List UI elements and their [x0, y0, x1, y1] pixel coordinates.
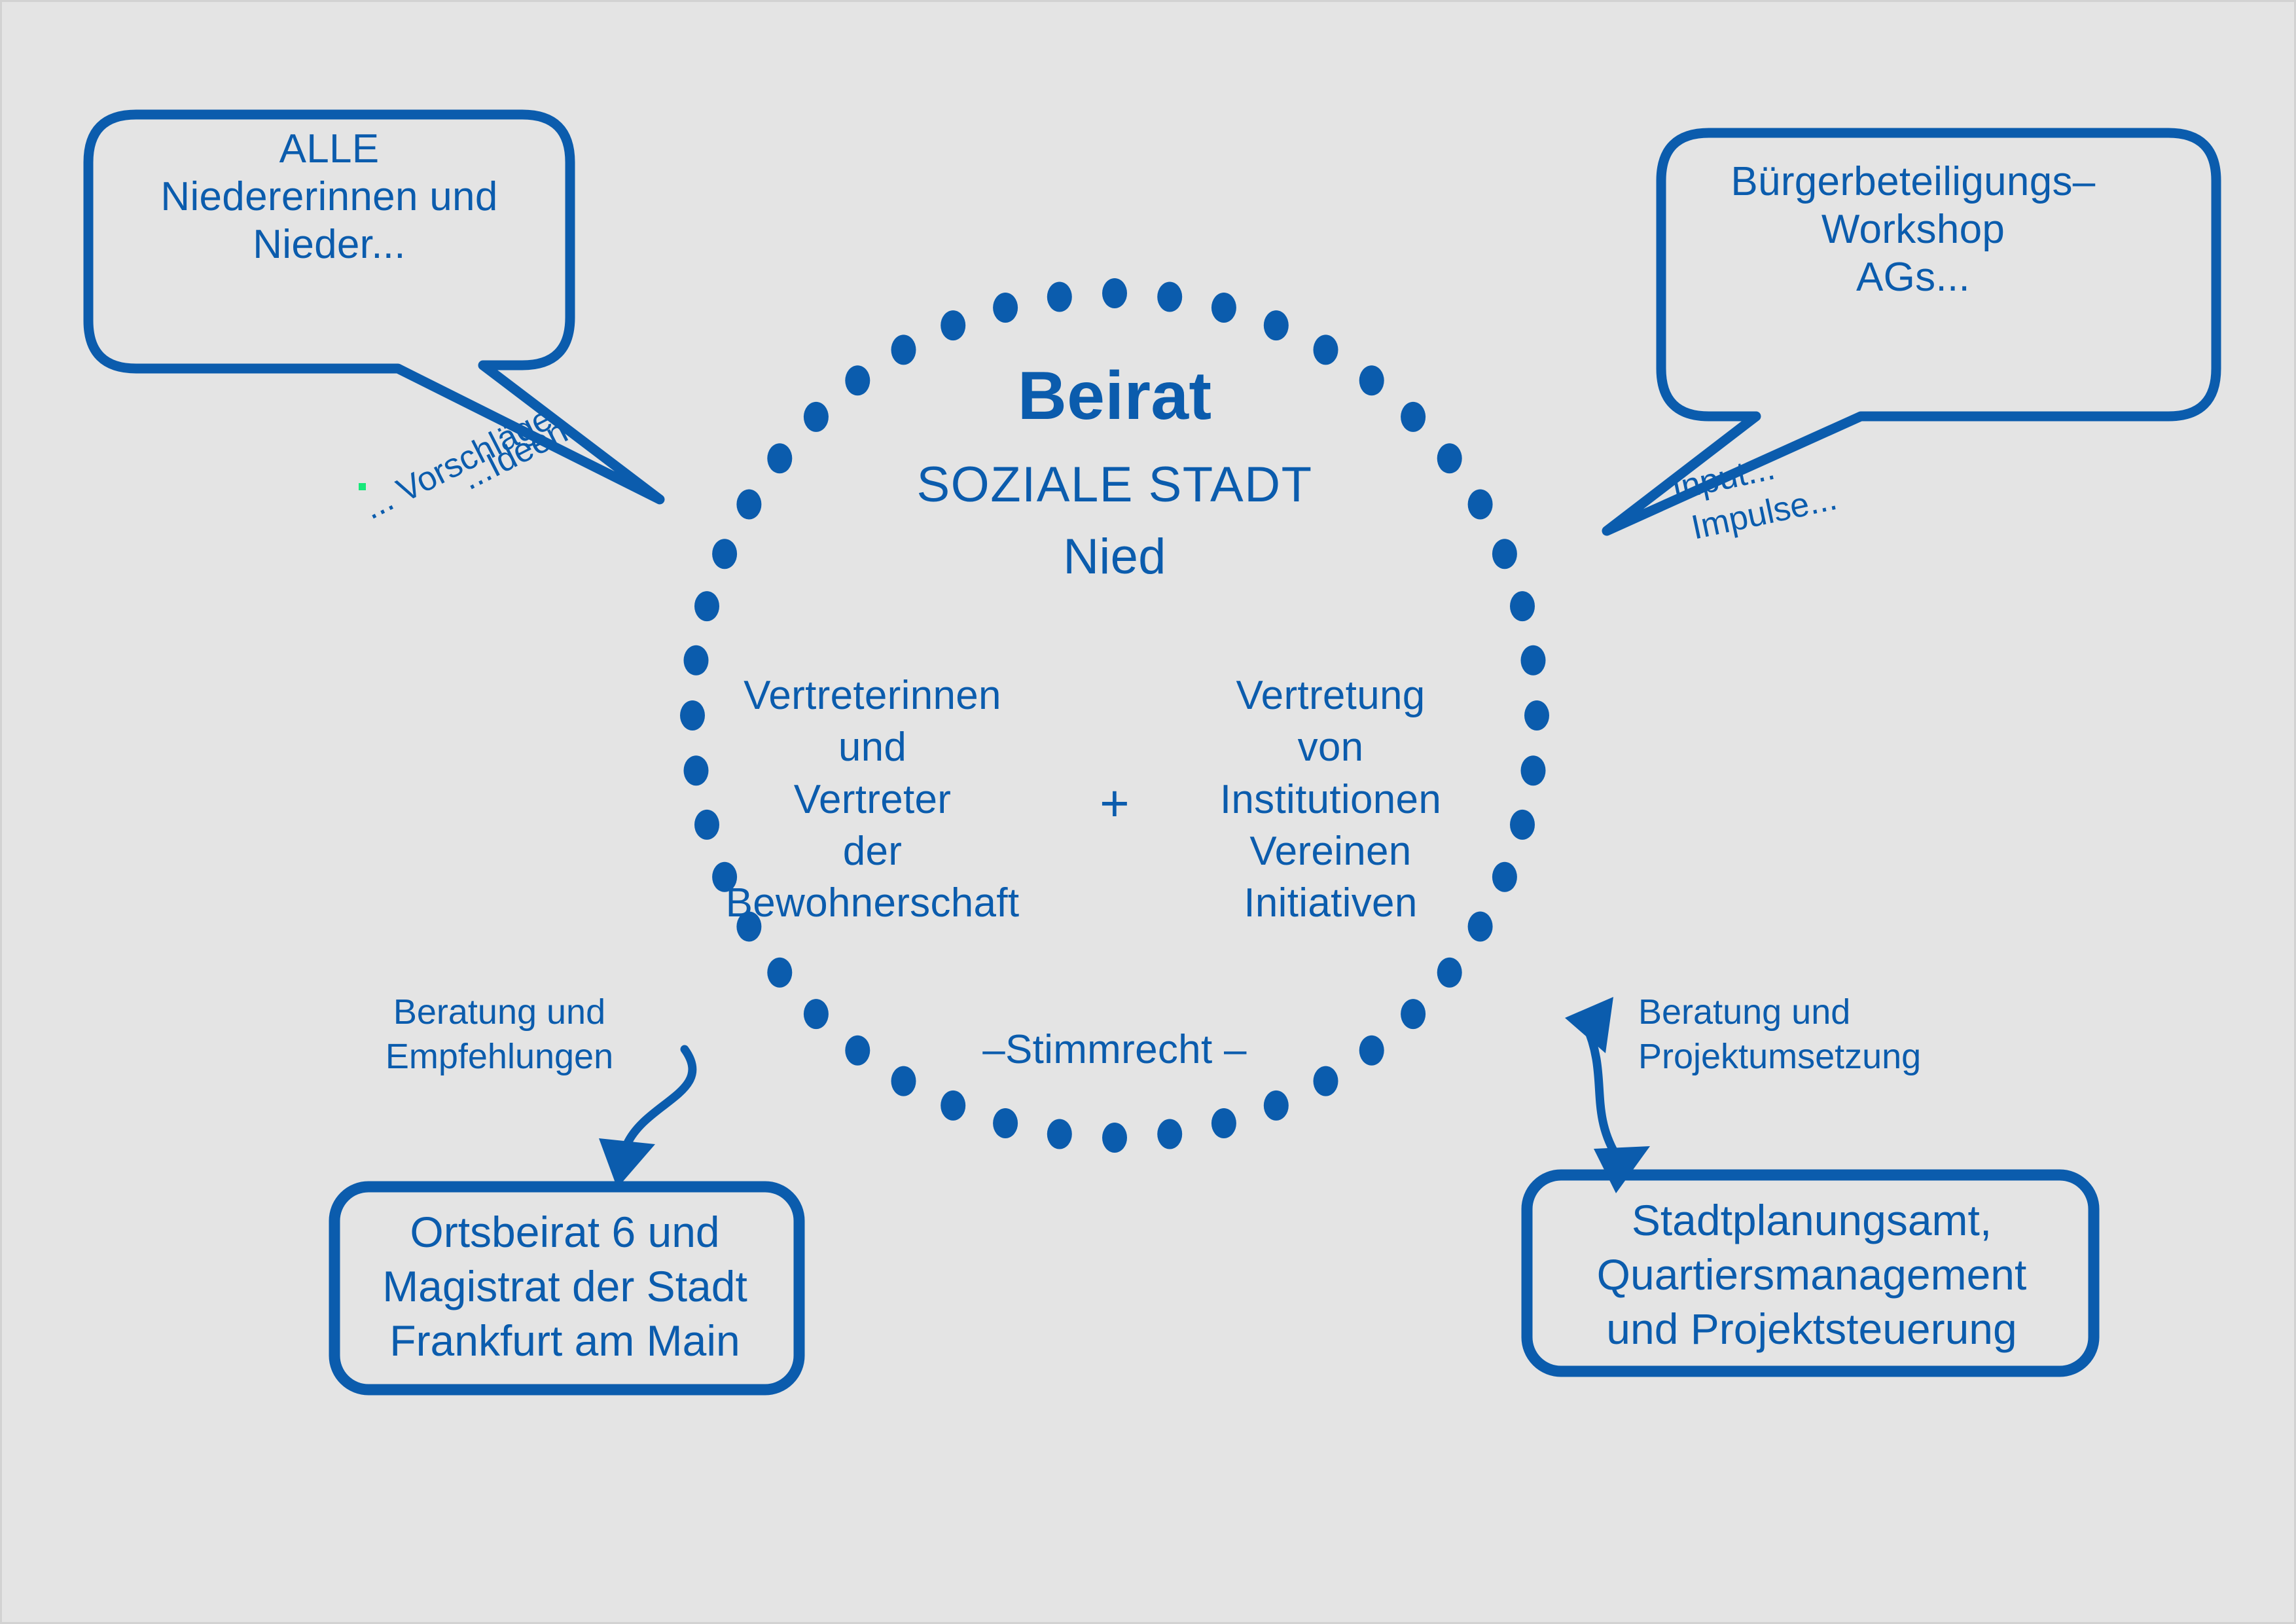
arrow-head-down-left [599, 1138, 655, 1188]
ring-dot [1211, 1108, 1236, 1138]
ring-dot [736, 490, 761, 520]
ring-dot [1521, 645, 1546, 676]
ring-dot [680, 700, 705, 731]
ring-dot [684, 645, 709, 676]
arrow-label-beratung-projektumsetzung: Beratung und Projektumsetzung [1638, 990, 1946, 1079]
ring-dot [694, 591, 719, 621]
box-stadtplanungsamt-label: Stadtplanungsamt, Quartiersmanagement un… [1524, 1193, 2100, 1356]
page-title: Beirat [833, 362, 1396, 430]
ring-dot [1401, 999, 1426, 1029]
ring-dot [941, 1091, 965, 1121]
ring-dot [1437, 443, 1462, 473]
box-ortsbeirat-label: Ortsbeirat 6 und Magistrat der Stadt Fra… [329, 1205, 800, 1368]
ring-dot [804, 402, 829, 432]
ring-dot [1102, 278, 1127, 308]
ring-dot [767, 958, 792, 988]
ring-dot [1492, 539, 1517, 569]
ring-dot [712, 539, 737, 569]
ring-dot [845, 1036, 870, 1066]
arrow-label-beratung-empfehlungen: Beratung und Empfehlungen [368, 990, 630, 1079]
ring-dot [891, 1066, 916, 1096]
speech-bubble-residents-label: ALLE Niedererinnen und Nieder... [100, 125, 558, 268]
ring-dot [993, 1108, 1018, 1138]
ring-dot [1047, 1119, 1072, 1149]
ring-dot [767, 443, 792, 473]
ring-dot [1521, 755, 1546, 785]
voting-rights-note: –Stimmrecht – [944, 1030, 1285, 1070]
page-subtitle-line1: SOZIALE STADT [833, 460, 1396, 510]
ring-dot [1157, 282, 1182, 312]
ring-dot [1510, 810, 1535, 840]
ring-dot [1437, 958, 1462, 988]
ring-dot [1468, 490, 1493, 520]
ring-dot [684, 755, 709, 785]
ring-dot [1524, 700, 1549, 731]
ring-dot [993, 293, 1018, 323]
ring-dot [1264, 310, 1289, 340]
ring-dot [941, 310, 965, 340]
page-subtitle-line2: Nied [833, 532, 1396, 582]
ring-dot [1264, 1091, 1289, 1121]
ring-dot [1359, 1036, 1384, 1066]
ring-dot [1157, 1119, 1182, 1149]
ring-dot [891, 334, 916, 365]
speech-bubble-participation-label: Bürgerbeteiligungs– Workshop AGs... [1677, 158, 2149, 301]
plus-icon: + [1075, 778, 1154, 829]
ring-dot [1047, 282, 1072, 312]
ring-dot [1211, 293, 1236, 323]
ring-dot [1314, 334, 1338, 365]
arrow-beratung-empfehlungen [627, 1049, 692, 1144]
ring-dot [1102, 1123, 1127, 1153]
ring-dot [1492, 862, 1517, 892]
ring-dot [804, 999, 829, 1029]
membership-column-residents: Vertreterinnen und Vertreter der Bewohne… [709, 670, 1036, 929]
ring-dot [1510, 591, 1535, 621]
green-speck-artifact [359, 483, 366, 490]
membership-column-institutions: Vertretung von Institutionen Vereinen In… [1187, 670, 1475, 929]
ring-dot [1401, 402, 1426, 432]
diagram-canvas: ALLE Niedererinnen und Nieder... Bürgerb… [0, 0, 2296, 1624]
ring-dot [1314, 1066, 1338, 1096]
